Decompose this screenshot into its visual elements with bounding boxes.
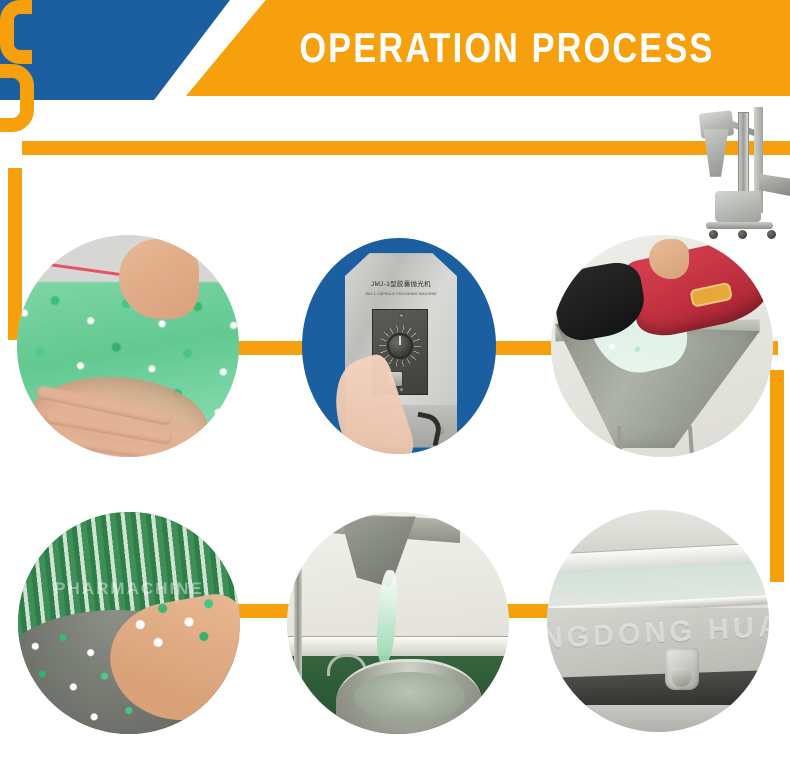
step-1-photo-capsules-inspection: 1 [17,235,239,457]
machine-hopper [704,129,729,177]
step-5-ledge [287,636,509,656]
step-6-lower-wall [547,705,769,732]
step-1-hand-upper [119,239,199,319]
speed-dial-knob[interactable] [387,333,413,359]
step-2-panel-title-en: JMJ-1 CAPSULE POLISHING MACHINE [356,292,446,296]
connector-corner-top-left [0,0,32,32]
machine-base [715,191,761,222]
step-5-photo-discharge-chute: 5 [287,512,509,734]
connector-corner-bottom-left [0,32,32,64]
vacuum-feeder-machine-image [694,104,790,244]
step-2-screw [399,387,404,392]
step-4-photo-polishing-drum: PHARMACHINE 4 [18,512,240,734]
step-2-photo-control-panel: JMJ-1型胶囊抛光机 JMJ-1 CAPSULE POLISHING MACH… [302,238,496,454]
step-6-photo-machine-panel: NGDONG HUA 6 [547,510,769,732]
step-2-panel-title-cn: JMJ-1型胶囊抛光机 [356,278,446,288]
operation-process-infographic: OPERATION PROCESS [0,0,790,762]
step-3-hopper-legs [617,426,695,457]
machine-tray [759,174,790,196]
connector-corner-top-right [0,64,34,98]
step-2-screw [399,313,404,318]
step-3-photo-pour-into-hopper: 3 [551,235,773,457]
step-4-watermark: PHARMACHINE [22,579,235,599]
step-5-bowl-contents [354,672,465,721]
connector-header-to-step-1 [22,141,790,155]
step-6-latch-clamp [665,648,699,690]
step-3-basin-label [689,282,733,308]
step-5-vertical-rail [294,525,302,711]
machine-foot-plate [706,222,773,229]
connector-corner-bottom-right [0,98,34,132]
